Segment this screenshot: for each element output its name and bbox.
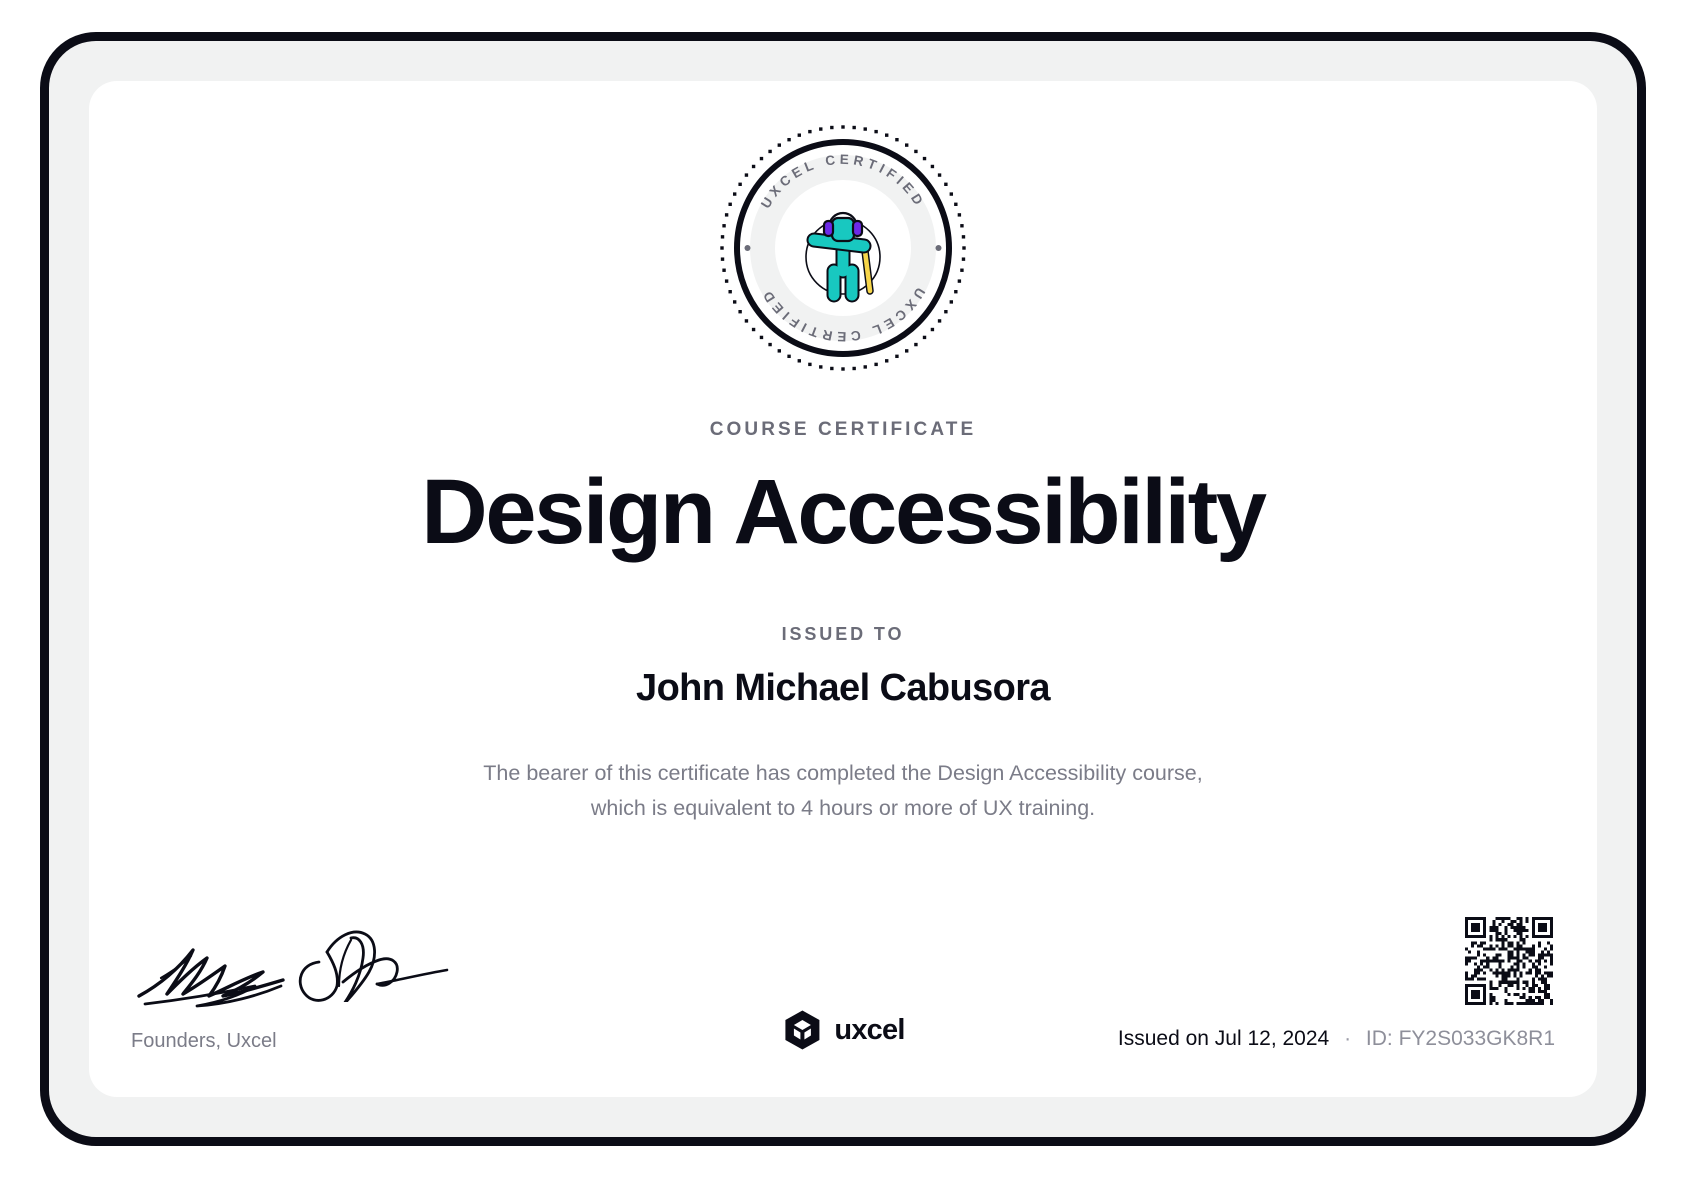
- course-certificate-label: COURSE CERTIFICATE: [89, 419, 1597, 441]
- badge-separator-dot-right: [936, 245, 942, 251]
- certificate-footer: Founders, Uxcel uxcel Issued on Jul 12, …: [89, 877, 1597, 1097]
- recipient-name: John Michael Cabusora: [89, 667, 1597, 710]
- certificate-frame: UXCEL CERTIFIED UXCEL CERTIFIED: [40, 32, 1646, 1146]
- uxcel-hexagon-icon: [781, 1009, 823, 1051]
- description-line-2: which is equivalent to 4 hours or more o…: [89, 791, 1597, 826]
- description-line-1: The bearer of this certificate has compl…: [89, 756, 1597, 791]
- badge-separator-dot-left: [745, 245, 751, 251]
- issue-date: Issued on Jul 12, 2024: [1118, 1027, 1329, 1050]
- signature-images: [131, 938, 511, 1014]
- uxcel-brand-logo: uxcel: [781, 1009, 904, 1051]
- uxcel-certified-badge: UXCEL CERTIFIED UXCEL CERTIFIED: [714, 119, 972, 377]
- founder-signature-two: [281, 926, 581, 1002]
- issue-meta: Issued on Jul 12, 2024 · ID: FY2S033GK8R…: [1118, 1027, 1555, 1051]
- course-title: Design Accessibility: [89, 463, 1597, 562]
- uxcel-wordmark: uxcel: [834, 1014, 904, 1047]
- certificate-description: The bearer of this certificate has compl…: [89, 756, 1597, 826]
- verification-qr-code[interactable]: [1465, 917, 1553, 1005]
- meta-separator: ·: [1344, 1027, 1351, 1050]
- signature-role-label: Founders, Uxcel: [131, 1030, 511, 1053]
- signature-block: Founders, Uxcel: [131, 938, 511, 1053]
- issued-to-label: ISSUED TO: [89, 624, 1597, 645]
- certificate-id: ID: FY2S033GK8R1: [1366, 1027, 1555, 1050]
- certificate-card: UXCEL CERTIFIED UXCEL CERTIFIED: [89, 81, 1597, 1097]
